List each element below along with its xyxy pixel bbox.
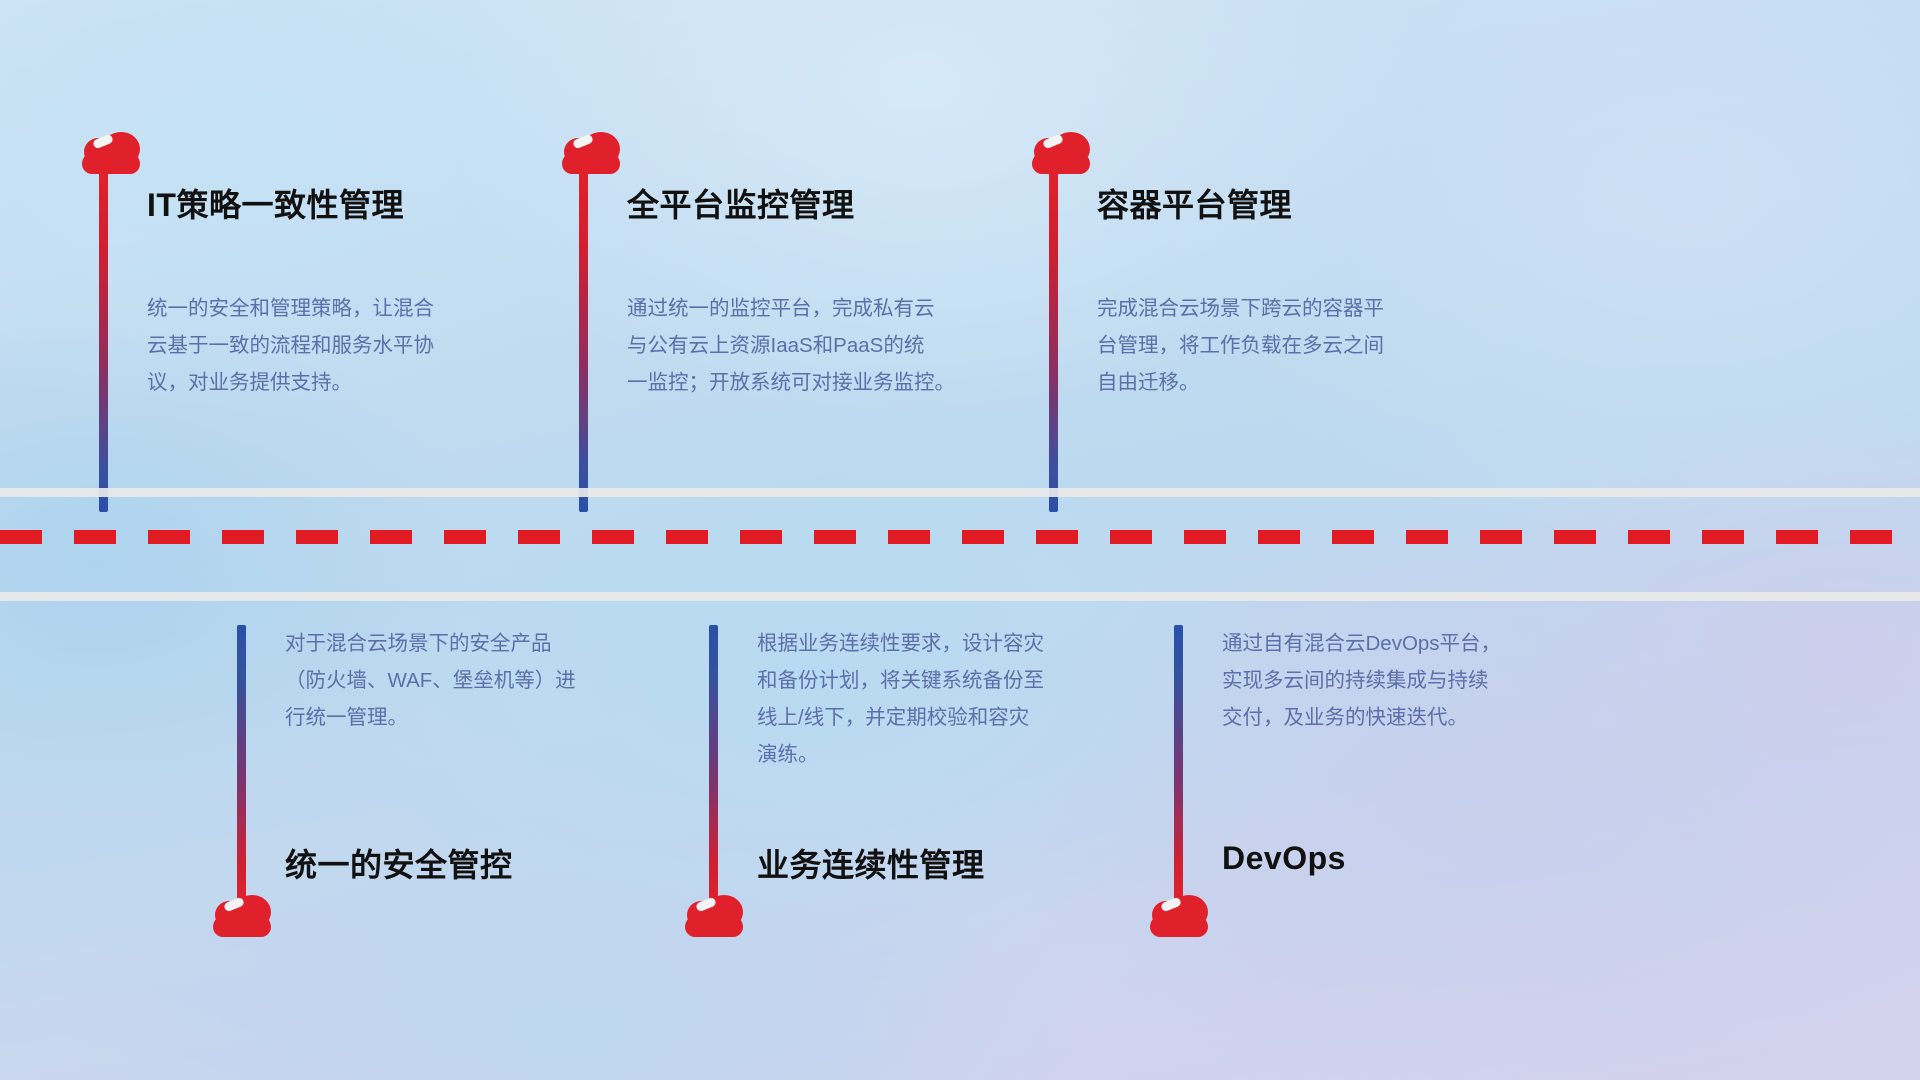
cloud-icon bbox=[683, 893, 745, 939]
description-line: 通过自有混合云DevOps平台， bbox=[1222, 625, 1572, 662]
description-line: 一监控；开放系统可对接业务监控。 bbox=[627, 364, 977, 401]
description-line: 和备份计划，将关键系统备份至 bbox=[757, 662, 1107, 699]
description-line: 台管理，将工作负载在多云之间 bbox=[1097, 327, 1447, 364]
description-line: 行统一管理。 bbox=[285, 699, 635, 736]
divider bbox=[0, 480, 1920, 600]
cloud-icon bbox=[1148, 893, 1210, 939]
infographic-canvas: IT策略一致性管理 统一的安全和管理策略，让混合 云基于一致的流程和服务水平协 … bbox=[0, 0, 1920, 1080]
cloud-base bbox=[685, 915, 743, 937]
cloud-base bbox=[1032, 152, 1090, 174]
connector-stem bbox=[579, 172, 588, 512]
cloud-base bbox=[82, 152, 140, 174]
feature-description: 通过自有混合云DevOps平台， 实现多云间的持续集成与持续 交付，及业务的快速… bbox=[1222, 625, 1572, 736]
feature-title: DevOps bbox=[1222, 840, 1346, 877]
description-line: 自由迁移。 bbox=[1097, 364, 1447, 401]
connector-stem bbox=[99, 172, 108, 512]
description-line: 统一的安全和管理策略，让混合 bbox=[147, 290, 497, 327]
divider-dashed-line bbox=[0, 530, 1920, 544]
cloud-base bbox=[562, 152, 620, 174]
description-line: 通过统一的监控平台，完成私有云 bbox=[627, 290, 977, 327]
connector-stem bbox=[1049, 172, 1058, 512]
feature-description: 统一的安全和管理策略，让混合 云基于一致的流程和服务水平协 议，对业务提供支持。 bbox=[147, 290, 497, 401]
feature-description: 根据业务连续性要求，设计容灾 和备份计划，将关键系统备份至 线上/线下，并定期校… bbox=[757, 625, 1107, 773]
feature-title: 统一的安全管控 bbox=[285, 840, 513, 886]
cloud-icon bbox=[80, 130, 142, 176]
cloud-icon bbox=[211, 893, 273, 939]
description-line: 演练。 bbox=[757, 736, 1107, 773]
feature-description: 通过统一的监控平台，完成私有云 与公有云上资源IaaS和PaaS的统 一监控；开… bbox=[627, 290, 977, 401]
description-line: 根据业务连续性要求，设计容灾 bbox=[757, 625, 1107, 662]
feature-description: 完成混合云场景下跨云的容器平 台管理，将工作负载在多云之间 自由迁移。 bbox=[1097, 290, 1447, 401]
feature-title: 全平台监控管理 bbox=[627, 180, 855, 226]
cloud-icon bbox=[560, 130, 622, 176]
description-line: 与公有云上资源IaaS和PaaS的统 bbox=[627, 327, 977, 364]
connector-stem bbox=[709, 625, 718, 900]
description-line: 对于混合云场景下的安全产品 bbox=[285, 625, 635, 662]
divider-rail-bottom bbox=[0, 592, 1920, 601]
description-line: 完成混合云场景下跨云的容器平 bbox=[1097, 290, 1447, 327]
feature-title: 业务连续性管理 bbox=[757, 840, 985, 886]
description-line: 交付，及业务的快速迭代。 bbox=[1222, 699, 1572, 736]
connector-stem bbox=[1174, 625, 1183, 900]
description-line: 议，对业务提供支持。 bbox=[147, 364, 497, 401]
connector-stem bbox=[237, 625, 246, 900]
description-line: （防火墙、WAF、堡垒机等）进 bbox=[285, 662, 635, 699]
description-line: 云基于一致的流程和服务水平协 bbox=[147, 327, 497, 364]
feature-title: IT策略一致性管理 bbox=[147, 180, 404, 226]
cloud-base bbox=[213, 915, 271, 937]
cloud-base bbox=[1150, 915, 1208, 937]
feature-description: 对于混合云场景下的安全产品 （防火墙、WAF、堡垒机等）进 行统一管理。 bbox=[285, 625, 635, 736]
divider-rail-top bbox=[0, 488, 1920, 497]
description-line: 线上/线下，并定期校验和容灾 bbox=[757, 699, 1107, 736]
cloud-icon bbox=[1030, 130, 1092, 176]
feature-title: 容器平台管理 bbox=[1097, 180, 1292, 226]
description-line: 实现多云间的持续集成与持续 bbox=[1222, 662, 1572, 699]
